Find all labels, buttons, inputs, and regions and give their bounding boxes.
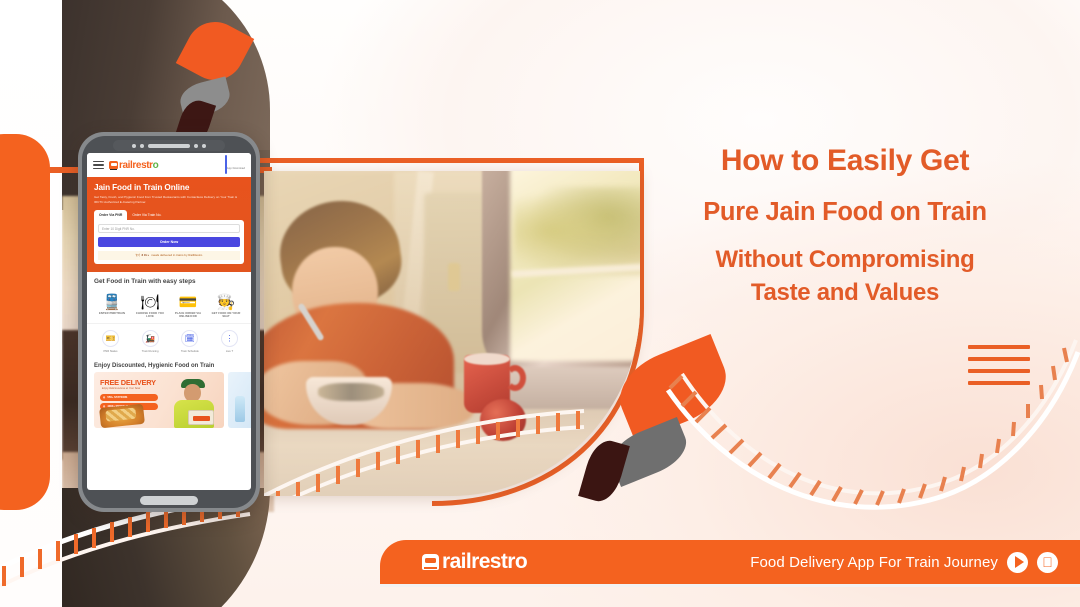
step-item: 🍽 CHOOSE FOOD YOU LOVE [132, 290, 168, 319]
headline-line-1: How to Easily Get [660, 142, 1030, 180]
promo-banner-secondary[interactable] [228, 372, 251, 428]
step-label: CHOOSE FOOD YOU LOVE [132, 312, 168, 319]
more-icon: ⋮ [221, 330, 238, 347]
bottom-brand-name: railrestro [442, 550, 527, 574]
app-header: railrestro App Download [87, 153, 251, 177]
train-logo-icon [109, 161, 118, 169]
station-icon: ◎ [103, 395, 105, 399]
hero-photo [264, 171, 640, 496]
seat-delivery-icon: 🧑‍🍳 [208, 290, 244, 310]
bottom-bar-right: Food Delivery App For Train Journey  [750, 552, 1058, 573]
quick-link-train-schedule[interactable]: 🗓 Train Schedule [173, 330, 206, 353]
headline-line-3: Without Compromising [660, 245, 1030, 276]
food-icon: 🍽 [136, 253, 140, 257]
quick-links-row: 🎫 PNR Status 🚂 Train Running 🗓 Train Sch… [87, 323, 251, 358]
phone-mockup: railrestro App Download Jain Food in Tra… [78, 132, 260, 512]
promo-section-title: Enjoy Discounted, Hygienic Food on Train [87, 358, 251, 372]
phone-screen: railrestro App Download Jain Food in Tra… [87, 153, 251, 490]
quick-link-label: Train Schedule [173, 350, 206, 353]
headline-block: How to Easily Get Pure Jain Food on Trai… [660, 142, 1030, 308]
step-item: 🚆 ENTER PNR/TRAIN [94, 290, 130, 319]
app-brand-name-green: o [153, 160, 159, 171]
promo-subtitle: Enjoy Deliciousness at Your Seat [102, 387, 140, 390]
calendar-icon: 🗓 [181, 330, 198, 347]
bottom-tagline: Food Delivery App For Train Journey [750, 554, 998, 571]
poster-canvas: railrestro App Download Jain Food in Tra… [0, 0, 1080, 607]
steps-row: 🚆 ENTER PNR/TRAIN 🍽 CHOOSE FOOD YOU LOVE… [94, 290, 244, 319]
order-now-button[interactable]: Order Now [98, 237, 240, 247]
easy-steps-title: Get Food in Train with easy steps [94, 278, 244, 285]
train-running-icon: 🚂 [142, 330, 159, 347]
quick-link-pnr-status[interactable]: 🎫 PNR Status [94, 330, 127, 353]
meals-delivered-note: 🍽 2 Cr+ meals delivered in trains by Rai… [98, 251, 240, 260]
promo-pill-stations: ◎ 550+ STATIONS [100, 394, 158, 401]
meals-note-text: meals delivered in trains by RailRestro [151, 253, 202, 257]
step-item: 🧑‍🍳 GET FOOD ON YOUR SEAT [208, 290, 244, 319]
quick-link-train-running[interactable]: 🚂 Train Running [134, 330, 167, 353]
tab-order-via-pnr[interactable]: Order Via PNR [94, 210, 127, 220]
google-play-icon[interactable] [1007, 552, 1028, 573]
headline-line-4: Taste and Values [660, 278, 1030, 309]
app-brand-name-orange: railrestr [119, 160, 153, 171]
tab-order-via-train-no[interactable]: Order Via Train No. [127, 210, 166, 220]
promo-title: FREE DELIVERY [100, 378, 156, 387]
quick-link-label: Train Running [134, 350, 167, 353]
quick-link-label: Live T [213, 350, 246, 353]
meals-count: 2 Cr+ [142, 253, 150, 257]
food-tray-icon [99, 403, 145, 427]
app-brand-logo[interactable]: railrestro [109, 160, 158, 171]
promo-pill-stations-label: 550+ STATIONS [107, 396, 127, 399]
promo-row: FREE DELIVERY Enjoy Deliciousness at You… [87, 372, 251, 428]
step-label: PLACE ORDER VIA ONLINE/COD [170, 312, 206, 319]
app-hero-title: Jain Food in Train Online [94, 183, 244, 192]
food-dome-icon: 🍽 [132, 290, 168, 310]
app-hero-description: Get Tasty, Fresh, and Hygienic Food from… [94, 195, 244, 204]
accent-lines [968, 345, 1030, 393]
quick-link-live-train[interactable]: ⋮ Live T [213, 330, 246, 353]
promo-banner-free-delivery[interactable]: FREE DELIVERY Enjoy Deliciousness at You… [94, 372, 224, 428]
phone-notch [113, 140, 225, 151]
bottom-brand-logo[interactable]: railrestro [422, 550, 527, 574]
headline-line-2: Pure Jain Food on Train [660, 196, 1030, 229]
app-hero-section: Jain Food in Train Online Get Tasty, Fre… [87, 177, 251, 272]
water-bottle-icon [235, 396, 245, 422]
mobile-icon [225, 155, 227, 174]
train-icon: 🚆 [94, 290, 130, 310]
quick-link-label: PNR Status [94, 350, 127, 353]
pnr-input[interactable]: Enter 10 Digit PNR No. [98, 224, 240, 233]
step-label: ENTER PNR/TRAIN [94, 312, 130, 316]
app-download-button[interactable]: App Download [225, 156, 245, 174]
order-tabs: Order Via PNR Order Via Train No. [94, 210, 244, 220]
step-item: 💳 PLACE ORDER VIA ONLINE/COD [170, 290, 206, 319]
app-store-icon[interactable]:  [1037, 552, 1058, 573]
pnr-icon: 🎫 [102, 330, 119, 347]
easy-steps-section: Get Food in Train with easy steps 🚆 ENTE… [87, 272, 251, 323]
order-online-icon: 💳 [170, 290, 206, 310]
app-download-label: App Download [227, 167, 245, 170]
order-panel: Enter 10 Digit PNR No. Order Now 🍽 2 Cr+… [94, 220, 244, 264]
phone-home-indicator [140, 496, 198, 505]
train-logo-icon [422, 554, 439, 570]
delivery-person-illustration [168, 376, 222, 428]
accent-tab-left [0, 134, 50, 510]
hamburger-icon[interactable] [93, 161, 104, 170]
bottom-bar-underline [380, 584, 1080, 587]
bottom-brand-bar: railrestro Food Delivery App For Train J… [380, 540, 1080, 584]
step-label: GET FOOD ON YOUR SEAT [208, 312, 244, 319]
